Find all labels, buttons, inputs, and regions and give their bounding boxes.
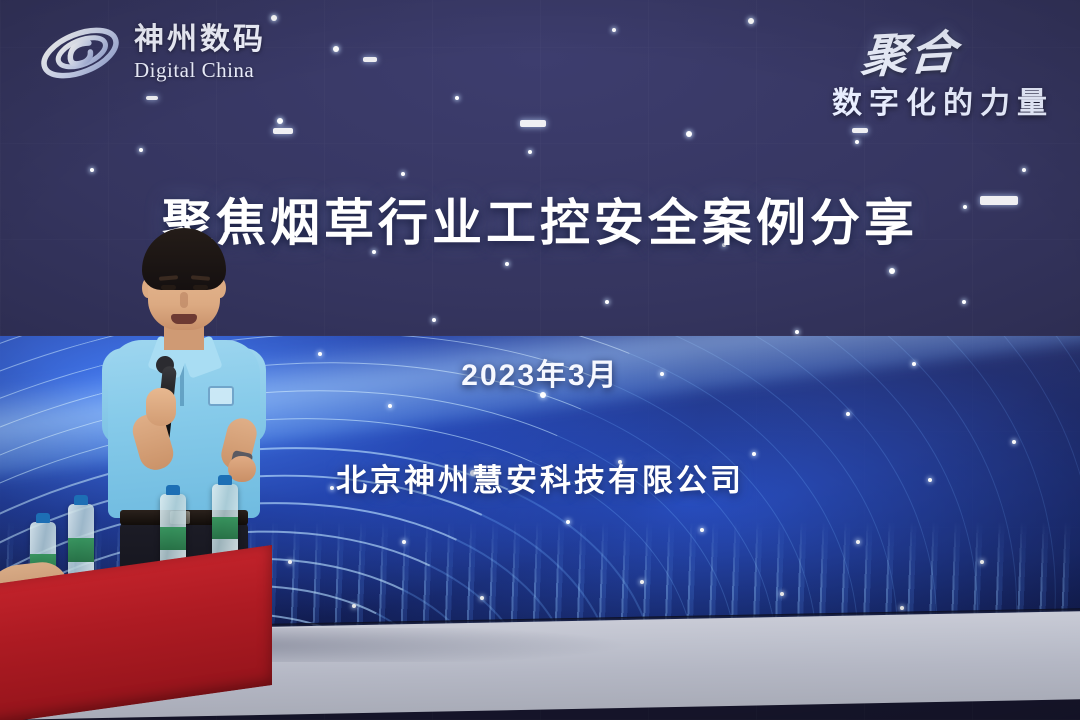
bottle-label <box>68 538 94 561</box>
water-bottle <box>212 484 238 558</box>
digital-china-logo: 神州数码 Digital China <box>38 20 266 86</box>
speaker-eye-left <box>161 285 176 290</box>
speaker-eye-right <box>193 285 208 290</box>
bottle-label <box>212 517 238 539</box>
event-theme-logo: 聚合 数字化的力量 <box>832 18 1054 122</box>
bottle-cap <box>218 475 232 485</box>
digital-china-wordmark: 神州数码 Digital China <box>134 25 266 81</box>
brand-name-en: Digital China <box>134 60 266 81</box>
shirt-chest-logo <box>208 386 234 406</box>
bottle-cap <box>74 495 88 505</box>
speaker-mouth <box>171 314 197 324</box>
speaker-hair <box>142 228 226 290</box>
speaker-nose <box>180 292 188 308</box>
bottle-cap <box>166 485 180 495</box>
speaker-right-hand <box>228 456 256 482</box>
theme-calligraphy: 聚合 <box>859 16 961 87</box>
digital-china-swirl-icon <box>38 20 122 86</box>
speaker-left-hand <box>146 388 176 426</box>
bottle-cap <box>36 513 50 523</box>
conference-photo: 神州数码 Digital China 聚合 数字化的力量 聚焦烟草行业工控安全案… <box>0 0 1080 720</box>
brand-name-cn: 神州数码 <box>134 25 266 55</box>
bottle-label <box>160 527 186 550</box>
